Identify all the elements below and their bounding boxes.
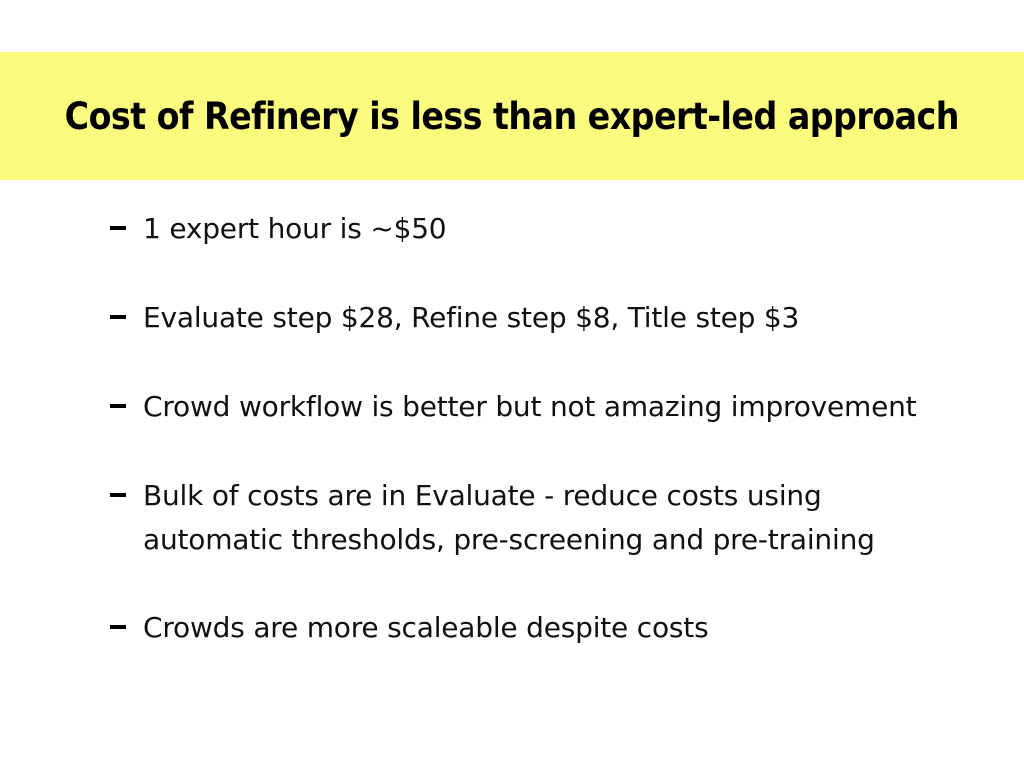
dash-bullet-icon xyxy=(110,226,126,230)
bullet-item: Crowd workflow is better but not amazing… xyxy=(0,385,1024,430)
bullet-text: Evaluate step $28, Refine step $8, Title… xyxy=(143,301,799,334)
dash-bullet-icon xyxy=(110,625,126,629)
bullet-text: 1 expert hour is ~$50 xyxy=(143,212,446,245)
slide-canvas: Cost of Refinery is less than expert-led… xyxy=(0,0,1024,768)
title-banner: Cost of Refinery is less than expert-led… xyxy=(0,52,1024,180)
dash-bullet-icon xyxy=(110,315,126,319)
bullet-item: 1 expert hour is ~$50 xyxy=(0,207,1024,252)
bullet-item: Bulk of costs are in Evaluate - reduce c… xyxy=(0,474,1024,562)
bullet-text: Crowd workflow is better but not amazing… xyxy=(143,390,916,423)
bullet-item: Crowds are more scaleable despite costs xyxy=(0,606,1024,651)
dash-bullet-icon xyxy=(110,493,126,497)
slide-title: Cost of Refinery is less than expert-led… xyxy=(65,98,959,135)
bullet-item: Evaluate step $28, Refine step $8, Title… xyxy=(0,296,1024,341)
dash-bullet-icon xyxy=(110,404,126,408)
bullet-list: 1 expert hour is ~$50 Evaluate step $28,… xyxy=(0,207,1024,651)
bullet-text: Crowds are more scaleable despite costs xyxy=(143,611,708,644)
bullet-text: Bulk of costs are in Evaluate - reduce c… xyxy=(143,479,875,556)
